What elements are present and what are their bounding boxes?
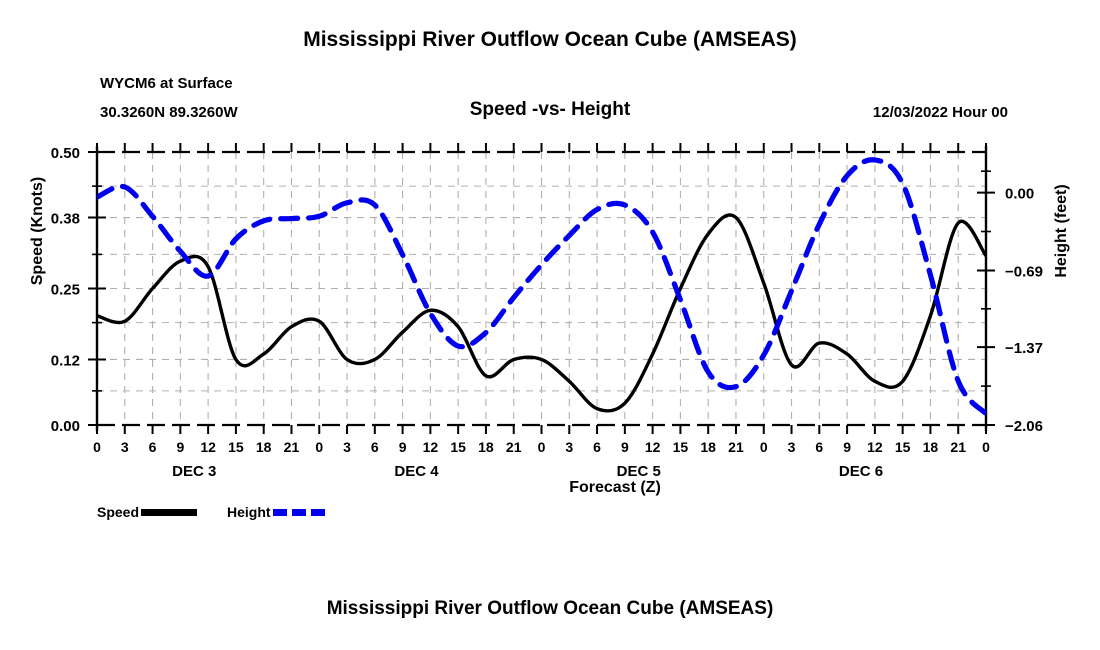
x-tick-label: 3 — [565, 439, 573, 455]
x-tick-label: 18 — [923, 439, 939, 455]
x-tick-label: 3 — [121, 439, 129, 455]
x-tick-label: 15 — [228, 439, 244, 455]
y-axis-label-left: Speed (Knots) — [29, 131, 47, 331]
x-tick-label: 15 — [450, 439, 466, 455]
x-tick-label: 6 — [371, 439, 379, 455]
x-tick-label: 9 — [399, 439, 407, 455]
y-tick-label-left: 0.38 — [51, 211, 80, 228]
x-tick-label: 3 — [343, 439, 351, 455]
x-tick-label: 21 — [950, 439, 966, 455]
x-tick-label: 12 — [200, 439, 216, 455]
x-tick-label: 0 — [982, 439, 990, 455]
x-axis-day-label: DEC 3 — [172, 463, 216, 480]
legend-swatch-speed-icon — [141, 509, 197, 516]
y-axis-label-right: Height (feet) — [1053, 131, 1071, 331]
x-tick-label: 21 — [728, 439, 744, 455]
x-tick-label: 15 — [895, 439, 911, 455]
legend-item-height: Height — [227, 504, 329, 520]
x-tick-label: 21 — [284, 439, 300, 455]
x-tick-label: 6 — [149, 439, 157, 455]
x-tick-label: 6 — [593, 439, 601, 455]
y-tick-label-left: 0.12 — [51, 352, 80, 369]
y-tick-label-left: 0.25 — [51, 282, 80, 299]
x-tick-label: 15 — [673, 439, 689, 455]
legend-swatch-height-icon — [273, 509, 329, 516]
x-tick-label: 0 — [760, 439, 768, 455]
x-tick-label: 0 — [315, 439, 323, 455]
x-axis-day-label: DEC 6 — [839, 463, 883, 480]
y-tick-label-right: −2.06 — [1005, 418, 1043, 435]
x-axis-label-text: Forecast (Z) — [439, 479, 661, 497]
page-title-bottom: Mississippi River Outflow Ocean Cube (AM… — [0, 598, 1100, 620]
x-tick-label: 18 — [700, 439, 716, 455]
x-tick-label: 0 — [93, 439, 101, 455]
x-tick-label: 12 — [867, 439, 883, 455]
x-tick-label: 9 — [843, 439, 851, 455]
x-tick-label: 12 — [423, 439, 439, 455]
legend-item-speed: Speed — [97, 504, 197, 520]
x-axis-day-label: DEC 5 — [617, 463, 661, 480]
x-tick-label: 9 — [621, 439, 629, 455]
x-tick-label: 6 — [815, 439, 823, 455]
legend-label-height: Height — [227, 504, 271, 520]
y-tick-label-left: 0.00 — [51, 418, 80, 435]
y-tick-label-right: −1.37 — [1005, 340, 1043, 357]
chart-legend: Speed Height — [97, 504, 329, 520]
y-tick-label-right: 0.00 — [1005, 186, 1034, 203]
legend-label-speed: Speed — [97, 504, 139, 520]
chart-svg: 0.000.120.250.380.50−2.06−1.37−0.690.000… — [0, 0, 1100, 650]
chart-page: Mississippi River Outflow Ocean Cube (AM… — [0, 0, 1100, 650]
x-tick-label: 0 — [538, 439, 546, 455]
x-tick-label: 18 — [478, 439, 494, 455]
x-tick-label: 21 — [506, 439, 522, 455]
x-axis-day-label: DEC 4 — [394, 463, 439, 480]
y-tick-label-right: −0.69 — [1005, 263, 1043, 280]
x-tick-label: 18 — [256, 439, 272, 455]
x-tick-label: 12 — [645, 439, 661, 455]
x-tick-label: 3 — [788, 439, 796, 455]
x-tick-label: 9 — [176, 439, 184, 455]
x-axis-label: Forecast (Z) — [0, 479, 1100, 497]
plot-area: 0.000.120.250.380.50−2.06−1.37−0.690.000… — [0, 0, 1100, 650]
y-tick-label-left: 0.50 — [51, 145, 80, 162]
